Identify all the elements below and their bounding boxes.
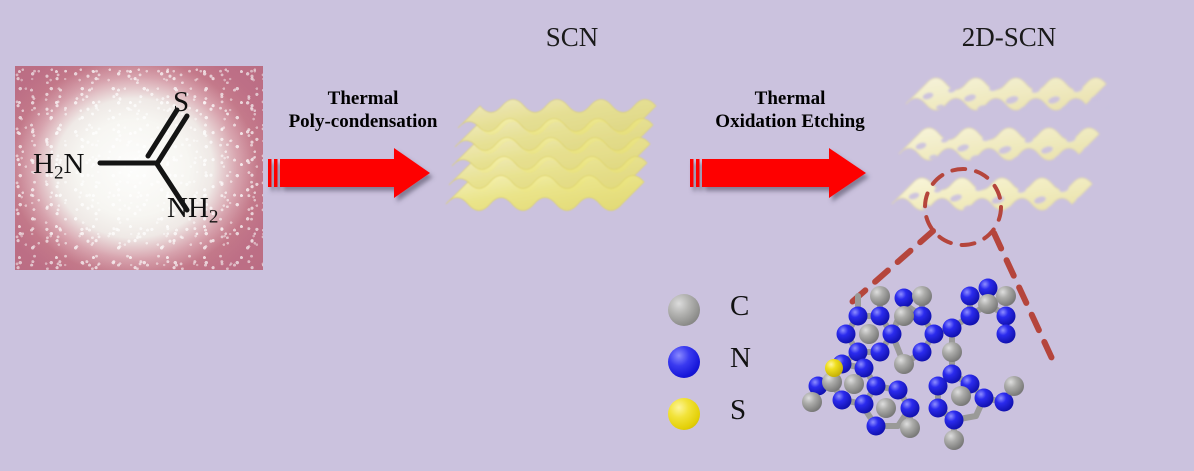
thiourea-bonds [15,66,263,270]
arrow-1-glyph [268,146,458,206]
product-heading-2d-scn: 2D-SCN [962,22,1057,53]
molecular-structure [818,282,1033,462]
carbon-sphere-icon [668,294,700,326]
legend-label-sulfur: S [730,394,746,427]
legend-label-carbon: C [730,290,749,323]
process-arrow-1-caption-line1: Thermal [268,88,458,110]
sulfur-sphere-icon [668,398,700,430]
legend-label-nitrogen: N [730,342,751,375]
sulfur-dopant-atom [825,359,843,377]
process-arrow-1-caption-line2: Poly-condensation [268,111,458,133]
process-arrow-2-caption-line2: Oxidation Etching [690,111,890,133]
carbon-nitride-lattice-svg [818,282,1033,462]
product-heading-scn: SCN [546,22,599,53]
figure-canvas: SCN 2D-SCN H2N S NH2 Thermal [0,0,1194,471]
nitrogen-sphere-icon [668,346,700,378]
process-arrow-1: Thermal Poly-condensation [268,88,458,203]
precursor-photo: H2N S NH2 [15,66,263,270]
thiourea-structure: H2N S NH2 [15,66,263,270]
process-arrow-2-caption-line1: Thermal [690,88,890,110]
scn-bulk-stack [452,88,682,248]
callout-circle [925,169,1001,245]
scn-layers-svg [452,88,682,248]
